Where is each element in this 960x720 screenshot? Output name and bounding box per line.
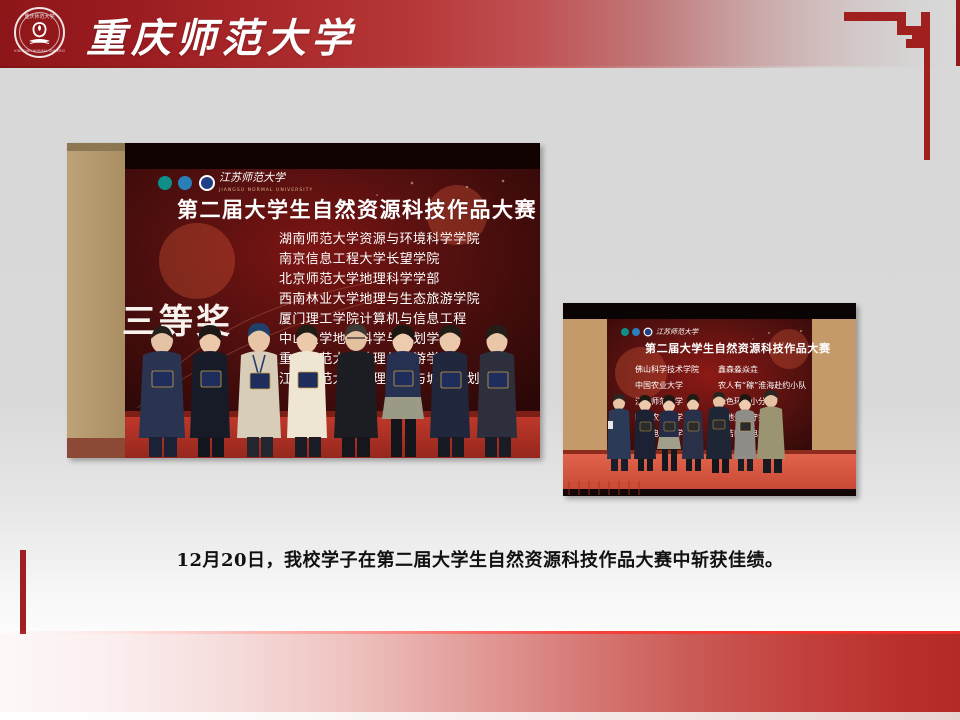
svg-text:佛山科学技术学院: 佛山科学技术学院 <box>635 364 699 374</box>
svg-text:南京信息工程大学长望学院: 南京信息工程大学长望学院 <box>279 251 440 267</box>
header-underline <box>0 66 960 68</box>
award-ceremony-photo-secondary: 江苏师范大学 第二届大学生自然资源科技作品大赛 佛山科学技术学院鑫森淼焱垚 中国… <box>563 303 856 496</box>
svg-text:重庆师范大学: 重庆师范大学 <box>24 13 54 20</box>
presentation-slide: 重庆师范大学 CHONGQING NORMAL UNIVERSITY 重庆师范大… <box>0 0 960 720</box>
slide-header: 重庆师范大学 CHONGQING NORMAL UNIVERSITY 重庆师范大… <box>0 0 960 68</box>
chinese-corner-ornament-top-right-icon <box>838 10 938 162</box>
slide-caption: 12月20日，我校学子在第二届大学生自然资源科技作品大赛中斩获佳绩。 <box>0 546 960 572</box>
svg-text:湖南师范大学资源与环境科学学院: 湖南师范大学资源与环境科学学院 <box>279 231 480 247</box>
svg-text:CHONGQING NORMAL UNIVERSITY: CHONGQING NORMAL UNIVERSITY <box>14 49 65 53</box>
svg-text:北京师范大学地理科学学部: 北京师范大学地理科学学部 <box>279 271 440 287</box>
bottom-edge-strip <box>0 712 960 720</box>
bottom-decorative-band <box>0 634 960 712</box>
svg-text:江苏师范大学: 江苏师范大学 <box>656 328 699 336</box>
award-ceremony-photo-main: 江苏师范大学 JIANGSU NORMAL UNIVERSITY 第二届大学生自… <box>67 143 540 458</box>
svg-text:鑫森淼焱垚: 鑫森淼焱垚 <box>718 364 758 374</box>
header-right-edge <box>956 0 960 68</box>
svg-text:第二届大学生自然资源科技作品大赛: 第二届大学生自然资源科技作品大赛 <box>177 198 537 222</box>
svg-text:中国农业大学: 中国农业大学 <box>635 380 683 390</box>
svg-text:第二届大学生自然资源科技作品大赛: 第二届大学生自然资源科技作品大赛 <box>645 341 831 355</box>
svg-text:JIANGSU NORMAL UNIVERSITY: JIANGSU NORMAL UNIVERSITY <box>218 187 313 193</box>
svg-text:厦门理工学院计算机与信息工程: 厦门理工学院计算机与信息工程 <box>279 311 467 327</box>
svg-text:西南林业大学地理与生态旅游学院: 西南林业大学地理与生态旅游学院 <box>279 291 480 307</box>
svg-text:农人有“稼”淮海赴约小队: 农人有“稼”淮海赴约小队 <box>718 380 806 390</box>
svg-text:江苏师范大学: 江苏师范大学 <box>219 171 287 184</box>
university-seal-icon: 重庆师范大学 CHONGQING NORMAL UNIVERSITY <box>14 7 69 62</box>
university-name-title: 重庆师范大学 <box>86 6 356 64</box>
